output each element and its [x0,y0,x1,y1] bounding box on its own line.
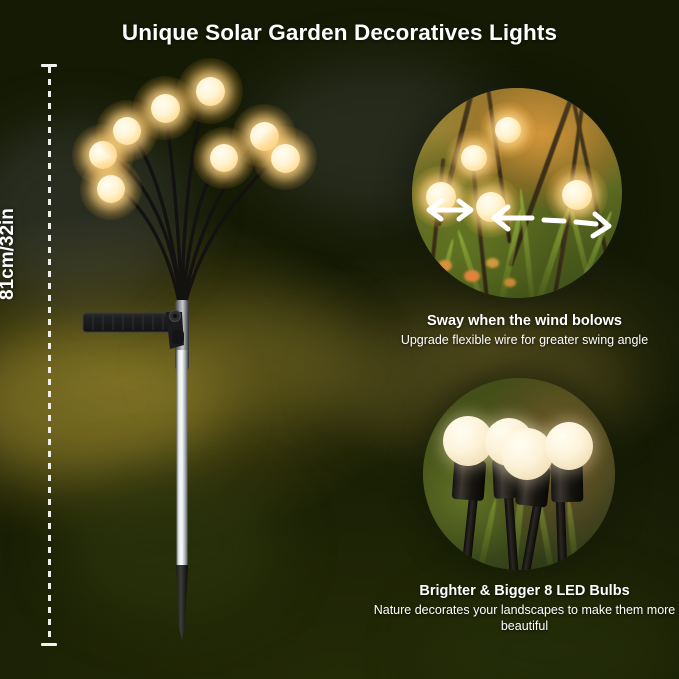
sway-inset [412,88,622,298]
foliage [478,498,499,570]
product-illustration [0,0,420,679]
bulbs-caption-sub: Nature decorates your landscapes to make… [370,602,679,634]
closeup-led-bulb [501,428,553,480]
led-bulb [210,144,238,172]
led-bulb [97,175,125,203]
led-bulb [151,94,180,123]
bulb-rod [520,498,543,570]
bulbs-inset [423,378,615,570]
bulb-rod [460,490,478,570]
led-bulb [113,117,141,145]
led-bulb [196,77,225,106]
closeup-led-bulb [545,422,593,470]
sway-caption-sub: Upgrade flexible wire for greater swing … [370,332,679,348]
solar-panel-group [83,311,184,350]
sway-caption-title: Sway when the wind bolows [370,313,679,329]
sway-inset-scene [412,88,622,298]
led-bulb [271,144,300,173]
sway-caption-block: Sway when the wind bolows Upgrade flexib… [370,313,679,348]
led-bulb [250,122,279,151]
sway-arrow-annotations [412,88,622,298]
led-bulb [89,141,117,169]
product-marketing-image: Unique Solar Garden Decoratives Lights 8… [0,0,679,679]
bulbs-inset-scene [423,378,615,570]
bulbs-caption-block: Brighter & Bigger 8 LED Bulbs Nature dec… [370,583,679,634]
bulbs-caption-title: Brighter & Bigger 8 LED Bulbs [370,583,679,599]
foliage [565,498,578,568]
